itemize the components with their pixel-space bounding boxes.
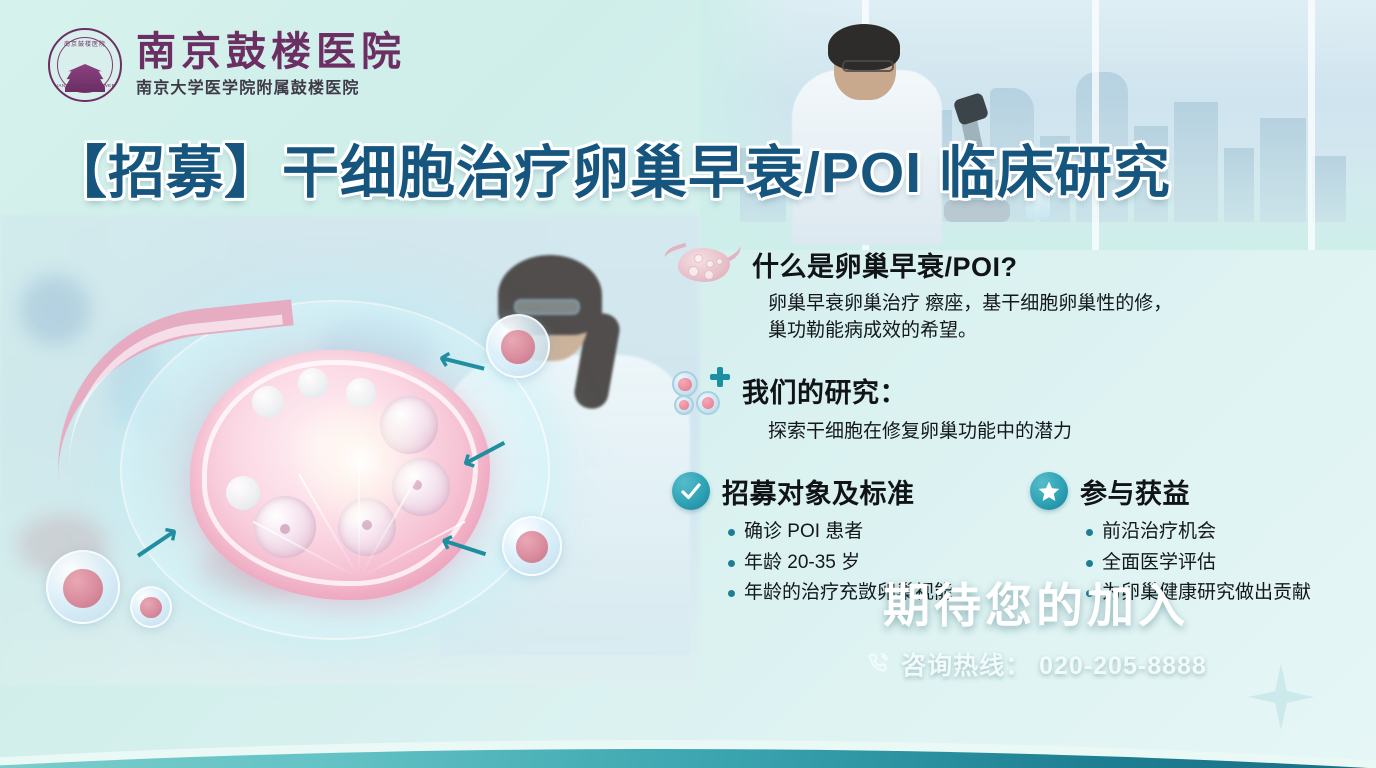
check-icon — [672, 472, 710, 510]
section-about-poi: 什么是卵巢早衰/POI? 卵巢早衰卵巢治疗 瘵座，基干细胞卵巢性的修， 巢功勒能… — [672, 242, 1362, 345]
benefits-heading: 参与获益 — [1080, 472, 1190, 511]
ovary-icon — [672, 242, 740, 286]
stem-cell — [486, 314, 550, 378]
content-panel: 什么是卵巢早衰/POI? 卵巢早衰卵巢治疗 瘵座，基干细胞卵巢性的修， 巢功勒能… — [672, 242, 1362, 609]
about-body-line1: 卵巢早衰卵巢治疗 瘵座，基干细胞卵巢性的修， — [768, 291, 1362, 318]
hospital-seal-icon: 南京鼓楼医院 NANJING DRUM TOWER HOSPITAL — [48, 28, 122, 102]
about-body-line2: 巢功勒能病成效的希望。 — [768, 318, 1362, 345]
page-title: 【招募】干细胞治疗卵巢早衰/POI 临床研究 — [50, 143, 1350, 205]
hotline-row: 咨询热线： 020-205-8888 — [826, 646, 1246, 682]
follicle — [252, 386, 284, 418]
about-heading: 什么是卵巢早衰/POI? — [752, 245, 1018, 284]
recruitment-poster: ⟵ ⟵ ⟵ ⟶ 南京鼓楼医院 NANJING DRUM TOWER HOSPIT… — [0, 0, 1376, 768]
hospital-subtitle: 南京大学医学院附属鼓楼医院 — [136, 74, 406, 98]
star-icon — [1030, 472, 1068, 510]
research-body: 探索干细胞在修复卵巢功能中的潜力 — [768, 419, 1362, 446]
light-burst — [286, 386, 436, 536]
call-to-action: 期待您的加入 咨询热线： 020-205-8888 — [826, 567, 1246, 682]
research-heading: 我们的研究： — [742, 371, 907, 410]
stem-cell — [502, 516, 562, 576]
seal-bottom-text: NANJING DRUM TOWER HOSPITAL — [50, 83, 120, 93]
stem-cell-icon — [672, 367, 730, 415]
hotline-text: 咨询热线： 020-205-8888 — [901, 646, 1207, 682]
follicle — [298, 368, 328, 398]
hospital-name: 南京鼓楼医院 — [136, 32, 406, 72]
list-item: 前沿治疗机会 — [1082, 517, 1340, 548]
cta-headline: 期待您的加入 — [826, 567, 1246, 636]
phone-icon — [865, 651, 891, 677]
criteria-heading: 招募对象及标准 — [722, 472, 915, 511]
section-our-research: 我们的研究： 探索干细胞在修复卵巢功能中的潜力 — [672, 367, 1362, 446]
hospital-logo: 南京鼓楼医院 NANJING DRUM TOWER HOSPITAL 南京鼓楼医… — [48, 28, 406, 102]
seal-top-text: 南京鼓楼医院 — [50, 39, 120, 48]
follicle — [226, 476, 260, 510]
list-item: 确诊 POI 患者 — [724, 517, 982, 548]
plus-icon — [710, 367, 730, 387]
